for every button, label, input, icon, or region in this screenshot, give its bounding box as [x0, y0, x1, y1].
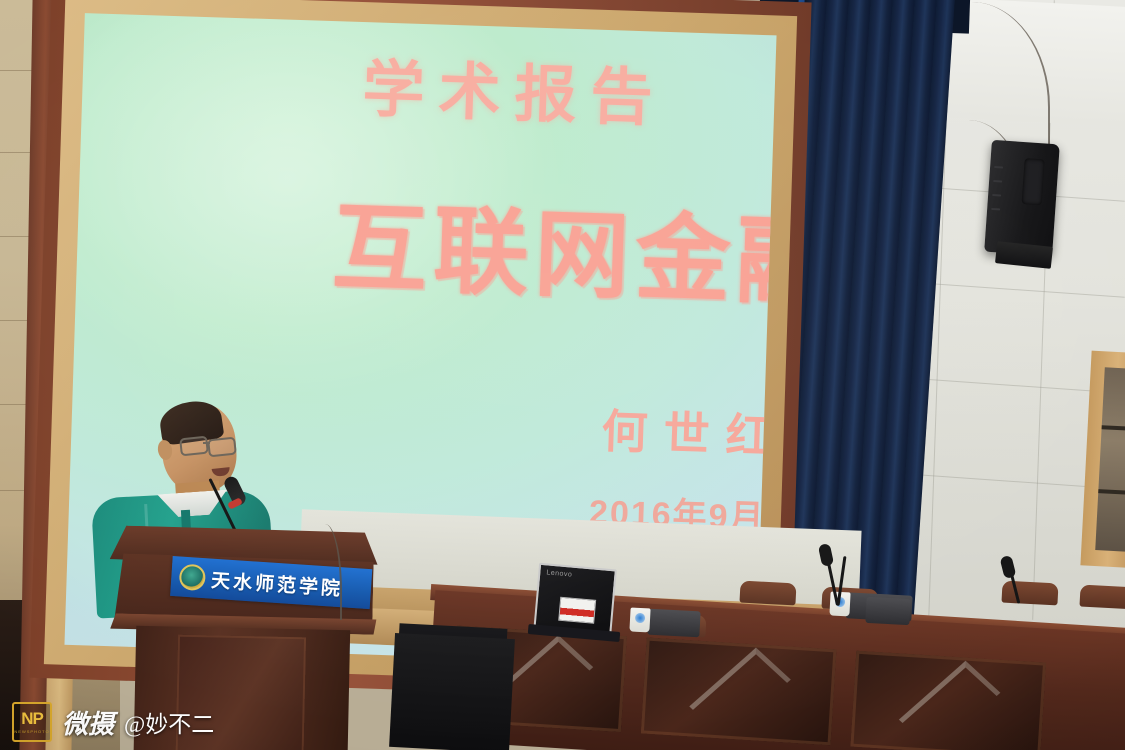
paper-cup: [629, 607, 650, 632]
chair-back: [1079, 585, 1125, 610]
np-logo-subtext: NEWSPHOTO: [14, 730, 49, 734]
watermark-handle: @妙不二: [124, 705, 214, 739]
photo-canvas: 学术报告 互联网金融 何世红 2016年9月13日: [0, 0, 1125, 750]
desk-chevron: [689, 648, 791, 739]
chair-back: [739, 581, 796, 606]
conference-mic-unit[interactable]: [647, 609, 700, 638]
wall-speaker-icon: [984, 140, 1060, 256]
laptop-brand-label: Lenovo: [546, 569, 572, 578]
chair-back: [1001, 581, 1058, 606]
watermark: NP NEWSPHOTO 微摄 @妙不二: [12, 702, 214, 742]
desk-panel: [850, 651, 1046, 750]
eyeglasses-icon: [207, 437, 237, 458]
door-pane: [1095, 367, 1125, 552]
university-emblem-icon: [179, 564, 207, 592]
np-logo-icon: NP NEWSPHOTO: [12, 702, 52, 742]
eyeglasses-bridge: [203, 442, 210, 444]
laptop-sticker: [558, 597, 596, 624]
desk-front-block: [389, 633, 515, 750]
np-logo-text: NP: [21, 710, 43, 727]
desk-panel: [641, 638, 837, 746]
watermark-brand: 微摄: [62, 704, 114, 741]
desk-chevron: [899, 661, 1001, 750]
speaker-cone: [1022, 158, 1045, 205]
eyeglasses-icon: [179, 436, 209, 457]
conference-mic-unit[interactable]: [865, 597, 910, 625]
